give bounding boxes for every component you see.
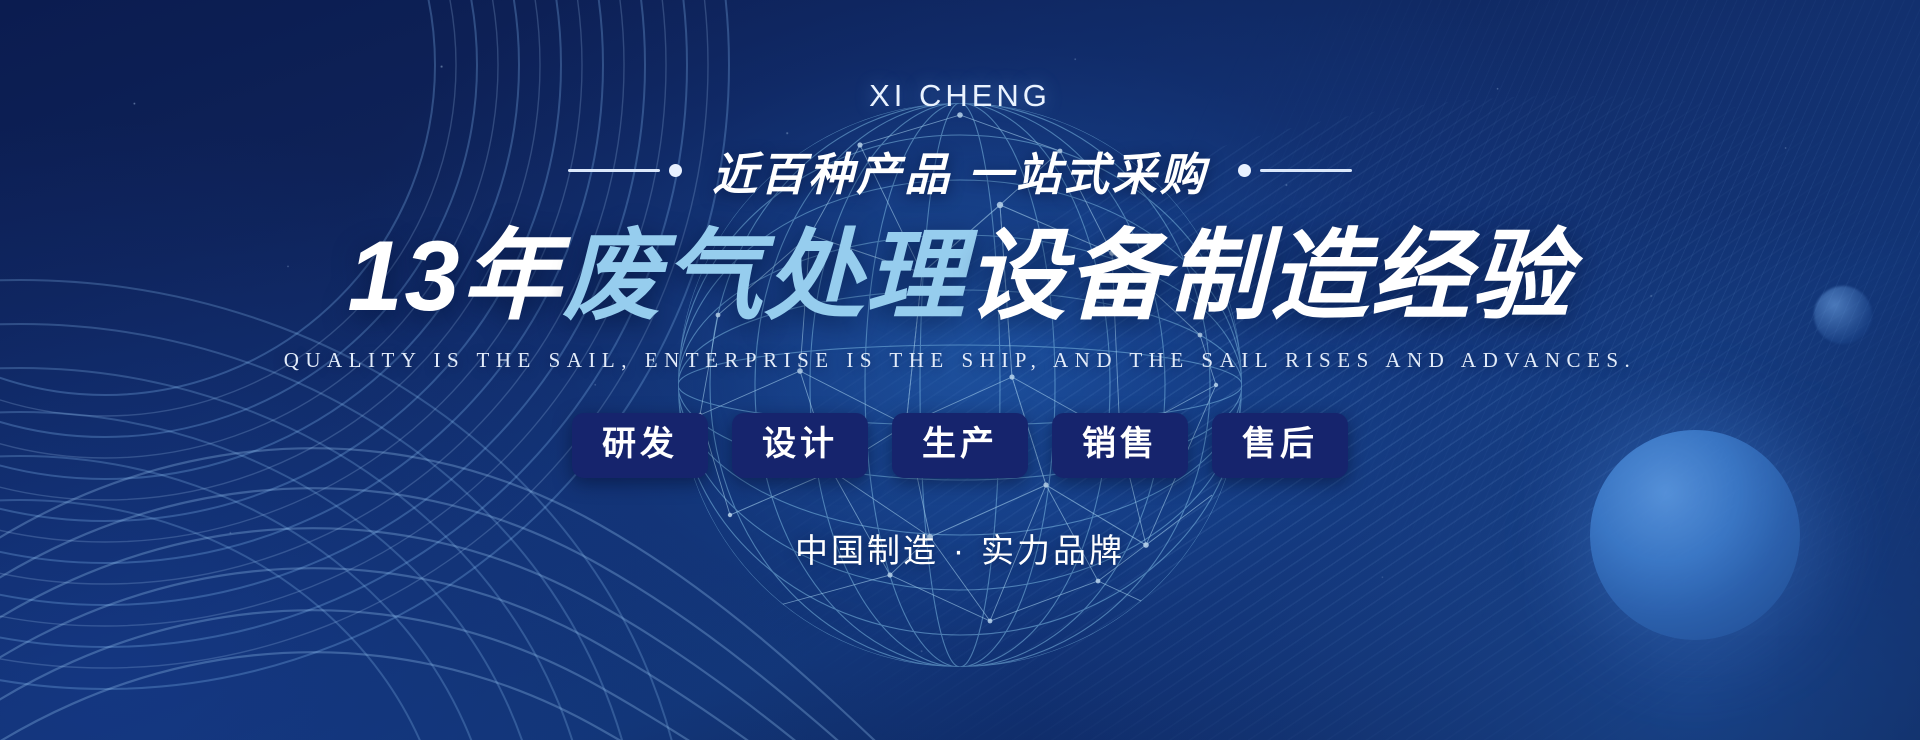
decoration-dot-left — [669, 164, 682, 177]
footer-slogan-separator: · — [939, 532, 981, 569]
footer-slogan-right: 实力品牌 — [981, 532, 1125, 569]
subtitle-row: 近百种产品 一站式采购 — [568, 138, 1352, 203]
hero-banner: XI CHENG 近百种产品 一站式采购 13年废气处理设备制造经验 QUALI… — [0, 0, 1920, 740]
decoration-line-left — [568, 169, 660, 172]
pill-production[interactable]: 生产 — [892, 413, 1028, 478]
service-pill-list: 研发 设计 生产 销售 售后 — [572, 413, 1348, 478]
pill-sales[interactable]: 销售 — [1052, 413, 1188, 478]
decoration-line-right — [1260, 169, 1352, 172]
pill-after-sales[interactable]: 售后 — [1212, 413, 1348, 478]
footer-slogan-left: 中国制造 — [795, 532, 939, 569]
headline-part1: 13年 — [347, 220, 562, 331]
brand-name: XI CHENG — [869, 78, 1051, 114]
footer-slogan: 中国制造·实力品牌 — [795, 524, 1125, 572]
decoration-left — [568, 164, 682, 177]
decoration-dot-right — [1238, 164, 1251, 177]
decoration-right — [1238, 164, 1352, 177]
pill-design[interactable]: 设计 — [732, 413, 868, 478]
headline-highlight: 废气处理 — [563, 220, 967, 331]
pill-research-development[interactable]: 研发 — [572, 413, 708, 478]
banner-content: XI CHENG 近百种产品 一站式采购 13年废气处理设备制造经验 QUALI… — [0, 0, 1920, 740]
headline-part2: 设备制造经验 — [967, 220, 1573, 331]
subtitle-text: 近百种产品 一站式采购 — [712, 138, 1208, 203]
english-tagline: QUALITY IS THE SAIL, ENTERPRISE IS THE S… — [284, 348, 1637, 373]
headline: 13年废气处理设备制造经验 — [347, 221, 1572, 332]
